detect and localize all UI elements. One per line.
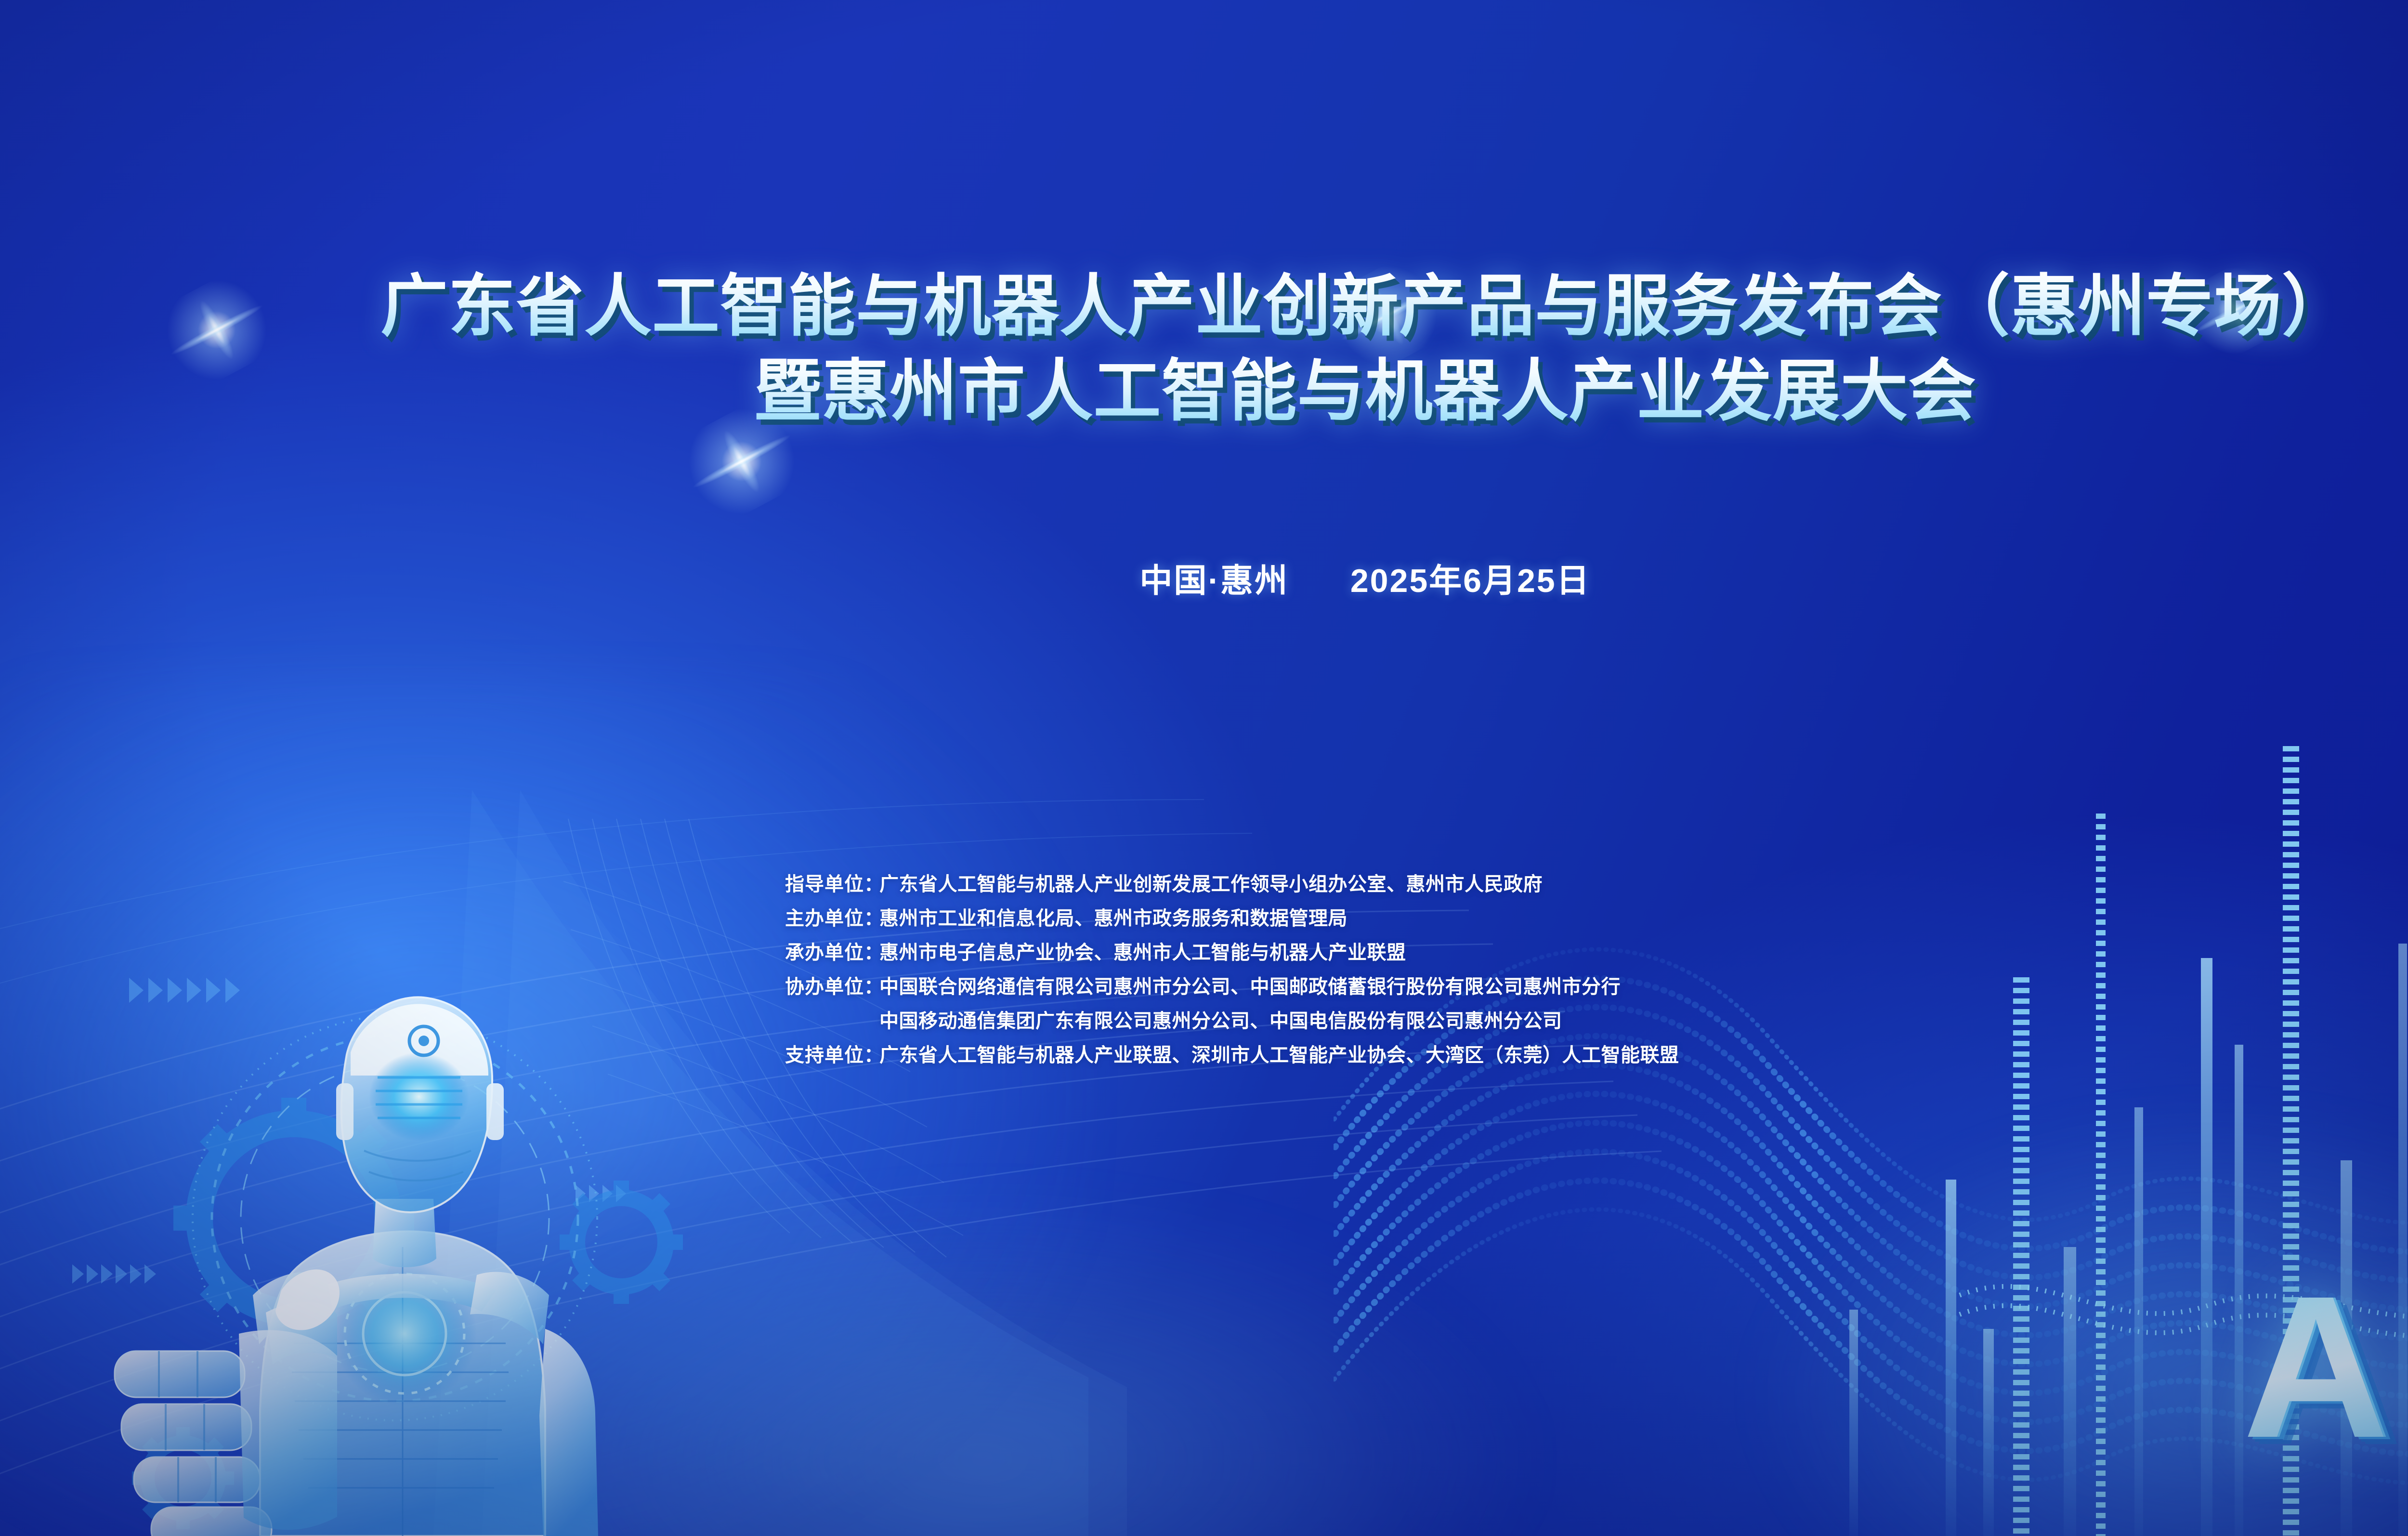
vignette-overlay bbox=[0, 0, 2408, 1536]
banner-canvas: AI 广东省人工智能与机器人产业创新产品与服务发布会（惠州专场） 暨惠州市人工智… bbox=[0, 0, 2408, 1536]
